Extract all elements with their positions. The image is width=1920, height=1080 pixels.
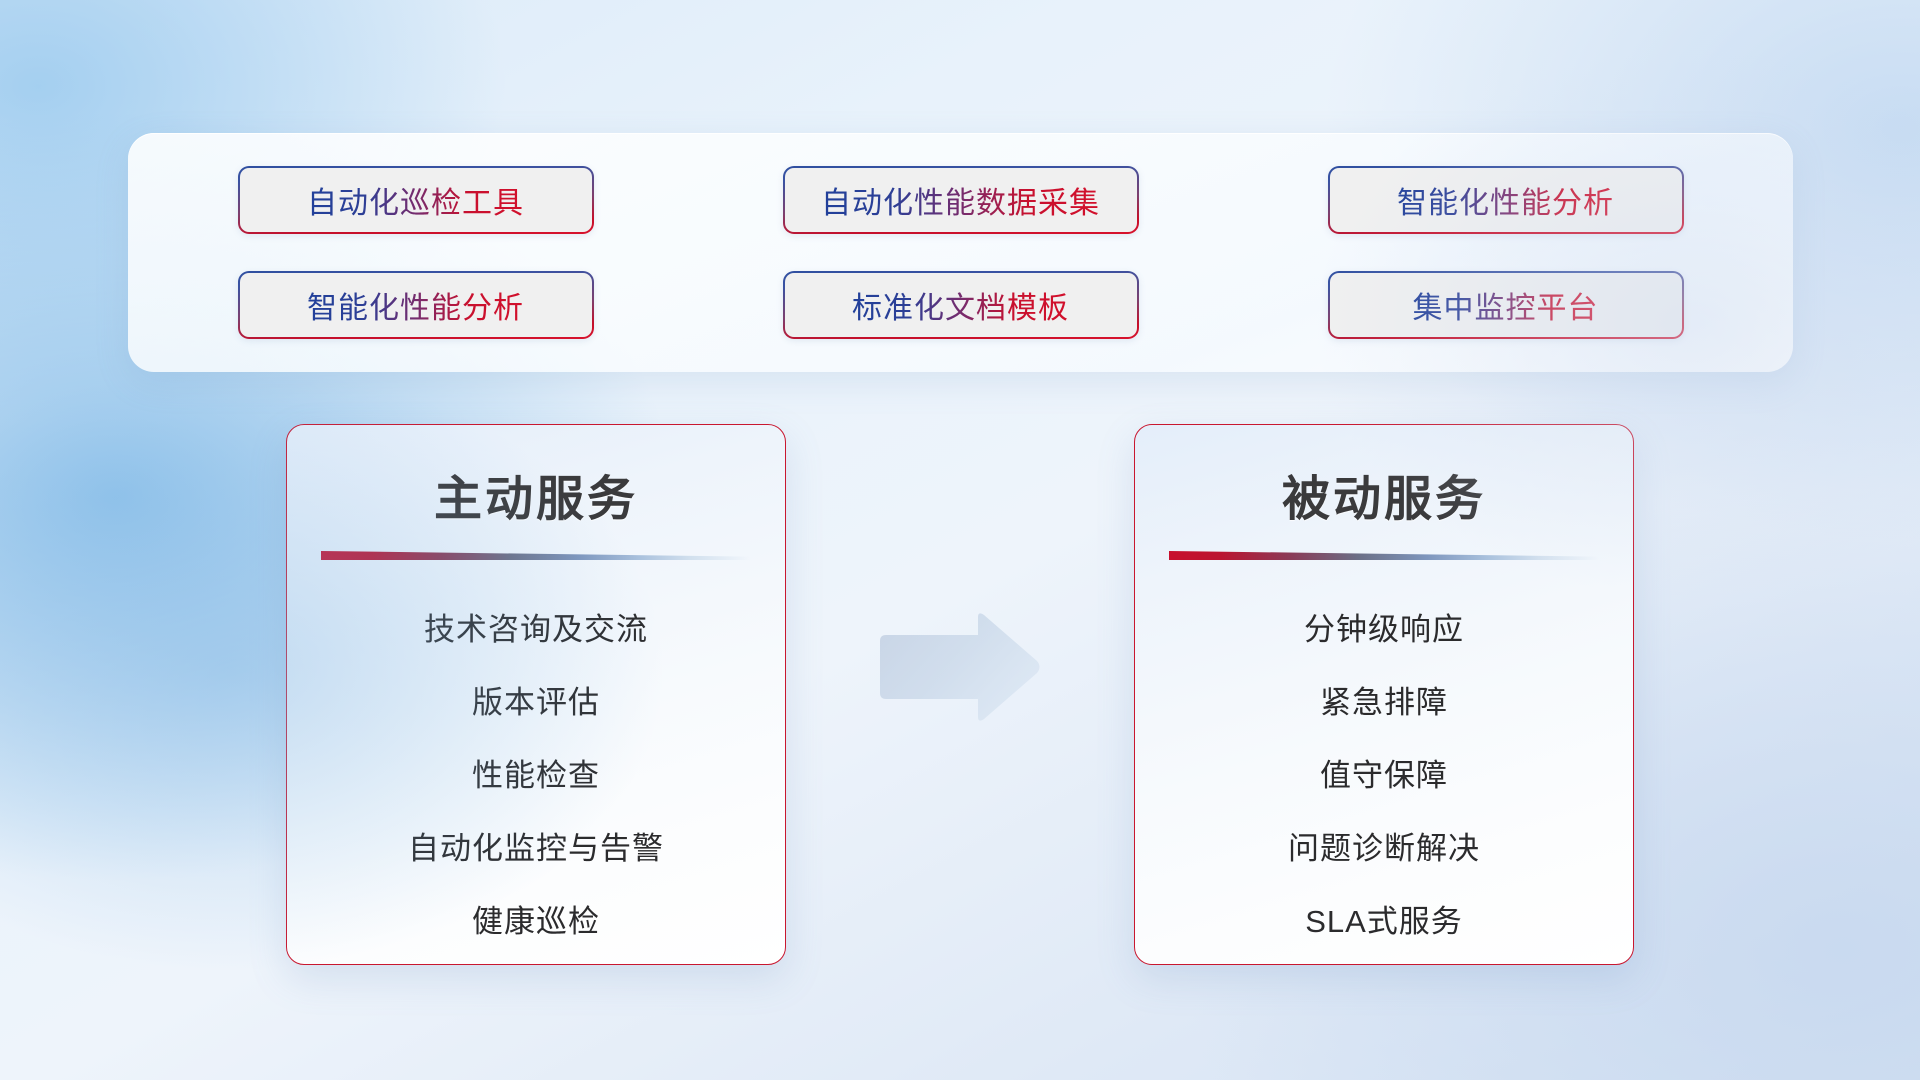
list-item: 自动化监控与告警 — [313, 809, 759, 882]
capability-pill-4-label: 智能化性能分析 — [307, 283, 524, 327]
list-item: 紧急排障 — [1161, 663, 1607, 736]
list-item: 版本评估 — [313, 663, 759, 736]
list-item: 分钟级响应 — [1161, 590, 1607, 663]
card-divider-reactive — [1169, 551, 1599, 560]
capability-pill-2-inner: 自动化性能数据采集 — [785, 168, 1137, 232]
capability-pill-4-inner: 智能化性能分析 — [240, 273, 592, 337]
capability-pill-1-label: 自动化巡检工具 — [307, 178, 524, 222]
capability-pill-2[interactable]: 自动化性能数据采集 — [783, 166, 1139, 234]
service-card-proactive-list: 技术咨询及交流 版本评估 性能检查 自动化监控与告警 健康巡检 — [287, 590, 785, 955]
list-item: 性能检查 — [313, 736, 759, 809]
capability-pill-2-label: 自动化性能数据采集 — [821, 178, 1100, 222]
list-item: SLA式服务 — [1161, 882, 1607, 955]
service-card-reactive-list: 分钟级响应 紧急排障 值守保障 问题诊断解决 SLA式服务 — [1135, 590, 1633, 955]
service-card-reactive-title: 被动服务 — [1135, 459, 1633, 529]
capability-pill-1[interactable]: 自动化巡检工具 — [238, 166, 594, 234]
capability-pill-3[interactable]: 智能化性能分析 — [1328, 166, 1684, 234]
capability-panel: 自动化巡检工具 自动化性能数据采集 智能化性能分析 智能化性能分析 标准化文档模… — [128, 133, 1793, 372]
capability-pill-6-label: 集中监控平台 — [1413, 283, 1599, 327]
list-item: 技术咨询及交流 — [313, 590, 759, 663]
card-divider-proactive — [321, 551, 751, 560]
service-card-reactive[interactable]: 被动服务 分钟级响应 紧急排障 值守保障 问题诊断解决 SLA式服务 — [1134, 424, 1634, 965]
service-card-proactive-title: 主动服务 — [287, 459, 785, 529]
list-item: 问题诊断解决 — [1161, 809, 1607, 882]
list-item: 健康巡检 — [313, 882, 759, 955]
arrow-right-icon — [874, 611, 1042, 725]
capability-pill-5[interactable]: 标准化文档模板 — [783, 271, 1139, 339]
capability-pill-5-label: 标准化文档模板 — [852, 283, 1069, 327]
capability-pill-5-inner: 标准化文档模板 — [785, 273, 1137, 337]
capability-pill-6-inner: 集中监控平台 — [1330, 273, 1682, 337]
capability-pill-1-inner: 自动化巡检工具 — [240, 168, 592, 232]
capability-pill-3-inner: 智能化性能分析 — [1330, 168, 1682, 232]
capability-pill-3-label: 智能化性能分析 — [1397, 178, 1614, 222]
slide-canvas: 自动化巡检工具 自动化性能数据采集 智能化性能分析 智能化性能分析 标准化文档模… — [0, 0, 1920, 1080]
capability-pill-4[interactable]: 智能化性能分析 — [238, 271, 594, 339]
service-card-proactive[interactable]: 主动服务 技术咨询及交流 版本评估 性能检查 自动化监控与告警 健康巡检 — [286, 424, 786, 965]
list-item: 值守保障 — [1161, 736, 1607, 809]
capability-pill-6[interactable]: 集中监控平台 — [1328, 271, 1684, 339]
